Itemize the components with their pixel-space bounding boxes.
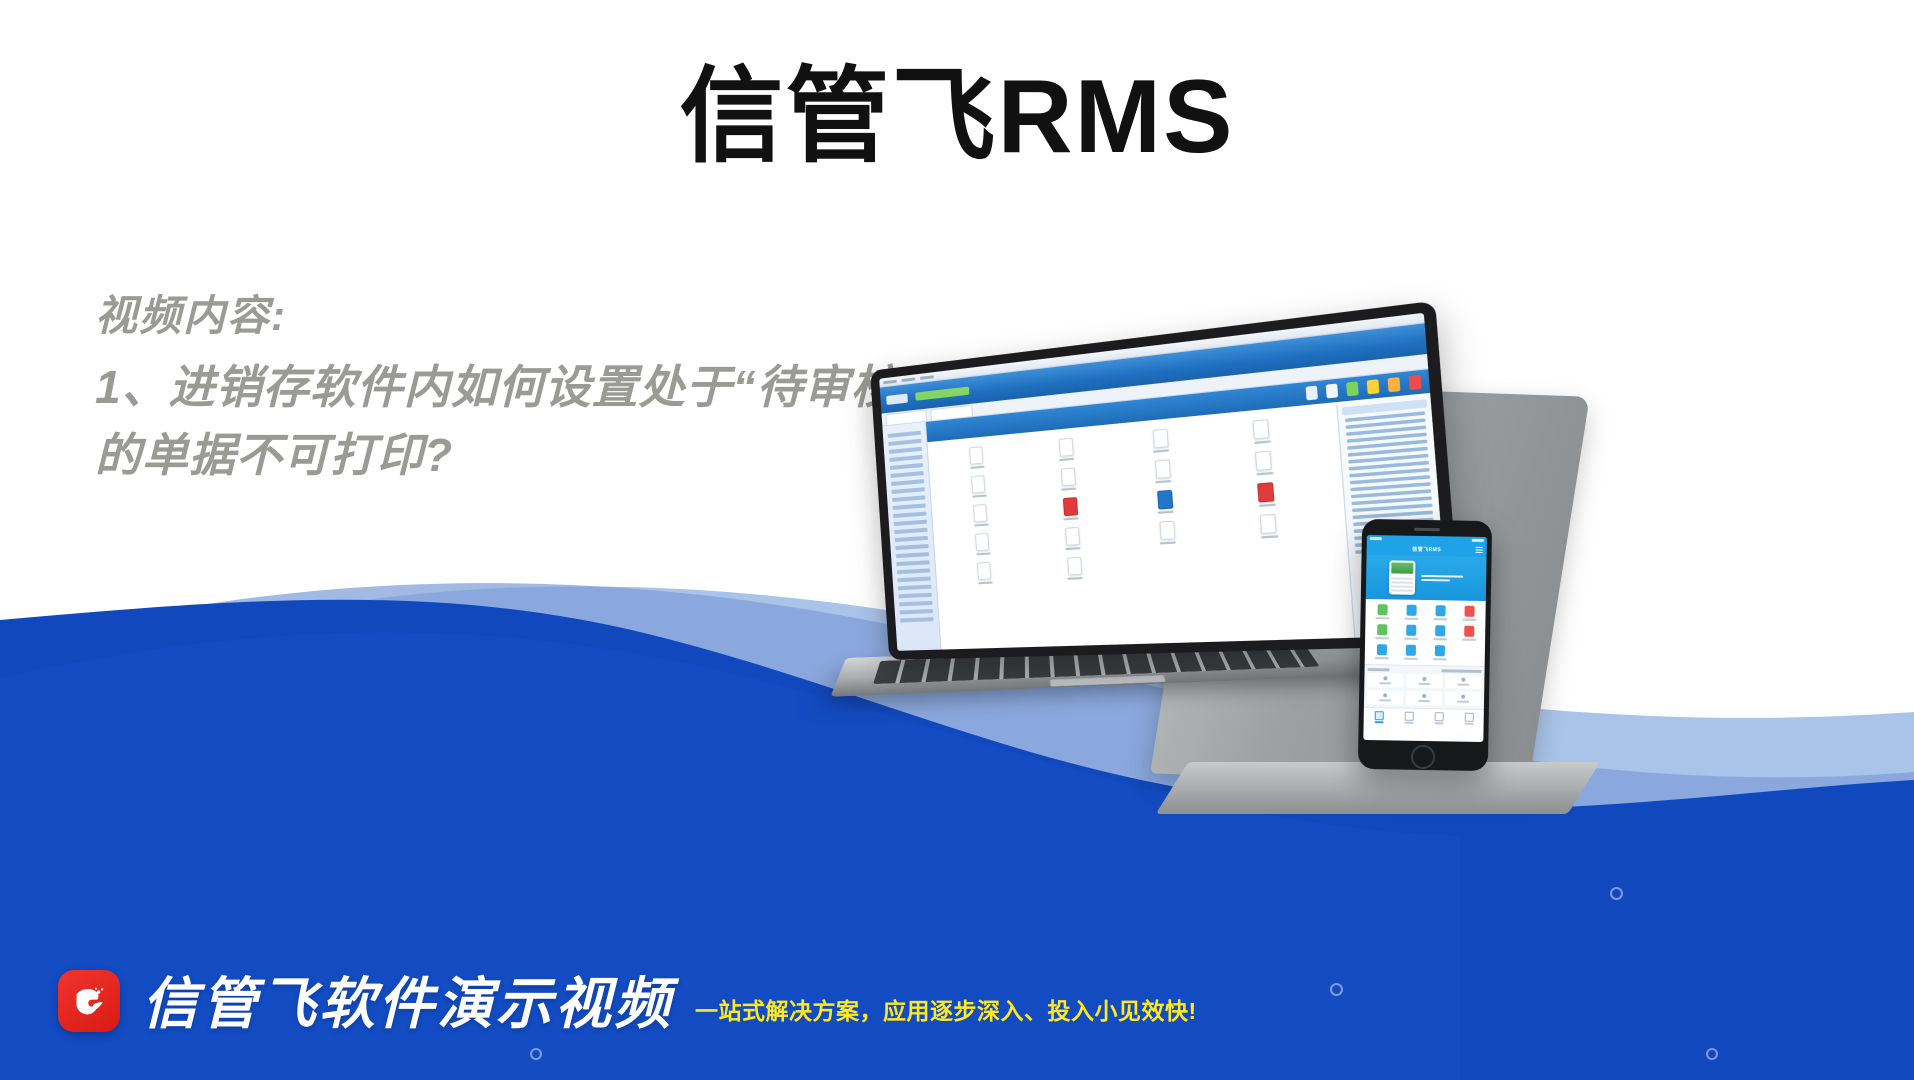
banner-image <box>1391 562 1413 573</box>
module-label <box>1156 480 1172 483</box>
module-icon <box>975 533 989 551</box>
module-label <box>978 582 992 585</box>
module-icon <box>1157 490 1173 510</box>
sidebar-item[interactable] <box>897 576 930 582</box>
stat-cell[interactable] <box>1367 673 1403 688</box>
erp-module-item[interactable] <box>943 560 1028 586</box>
module-label <box>972 495 986 498</box>
nav-label <box>1464 722 1473 724</box>
stat-icon <box>1461 695 1465 699</box>
erp-module-item[interactable] <box>1121 518 1216 547</box>
nav-label <box>1374 721 1383 723</box>
phone-module-item[interactable] <box>1455 606 1482 621</box>
module-label <box>1256 472 1273 476</box>
erp-module-item[interactable] <box>1026 494 1116 523</box>
menu-item <box>920 375 934 380</box>
module-label <box>1061 487 1076 490</box>
stat-cell[interactable] <box>1406 691 1442 706</box>
sidebar-item[interactable] <box>888 439 921 446</box>
nav-profile[interactable] <box>1454 710 1484 728</box>
toolbar-icon[interactable] <box>1409 375 1422 390</box>
module-label <box>1404 638 1418 640</box>
module-label <box>1462 639 1476 641</box>
banner-rows <box>1391 575 1413 591</box>
module-icon <box>1255 451 1272 471</box>
module-icon <box>1253 419 1270 440</box>
stat-label <box>1457 684 1469 686</box>
stat-icon <box>1461 678 1465 682</box>
module-label <box>1433 638 1447 640</box>
module-icon <box>1155 459 1171 479</box>
erp-module-item[interactable] <box>1217 479 1318 510</box>
module-label <box>1403 658 1417 660</box>
brand-tagline: 一站式解决方案，应用逐步深入、投入小见效快! <box>695 992 1197 1032</box>
phone-home-button[interactable] <box>1411 745 1435 769</box>
erp-module-item[interactable] <box>1022 434 1111 464</box>
stat-cell[interactable] <box>1445 674 1481 689</box>
module-label <box>976 552 990 555</box>
module-label <box>1374 657 1388 659</box>
module-label <box>974 524 988 527</box>
person-icon <box>1464 712 1473 721</box>
sidebar-item[interactable] <box>897 568 930 574</box>
phone-bottom-nav <box>1364 707 1484 727</box>
module-icon-placeholder <box>1463 646 1473 657</box>
presentation-slide: 信管飞RMS 视频内容: 1、进销存软件内如何设置处于“待审核” 的单据不可打印… <box>0 0 1914 1080</box>
phone-module-item <box>1455 646 1482 661</box>
module-icon <box>1260 514 1277 534</box>
stats-cells <box>1367 673 1482 706</box>
toolbar-icon[interactable] <box>1388 377 1401 392</box>
sidebar-item[interactable] <box>890 463 923 470</box>
erp-brand-text <box>915 386 969 400</box>
laptop-trackpad <box>1050 675 1166 687</box>
stats-filters[interactable] <box>1442 669 1482 673</box>
sidebar-item[interactable] <box>890 471 923 478</box>
module-label <box>1461 659 1475 661</box>
module-label <box>1154 449 1170 453</box>
module-label <box>1432 658 1446 660</box>
scan-icon <box>1404 711 1413 720</box>
toolbar-icon[interactable] <box>1306 386 1318 401</box>
module-icon <box>1377 624 1387 635</box>
sidebar-item[interactable] <box>896 552 929 558</box>
menu-item <box>901 377 915 382</box>
erp-module-item[interactable] <box>935 443 1019 472</box>
phone-module-item[interactable] <box>1455 626 1482 641</box>
module-icon <box>1405 645 1415 656</box>
sidebar-item[interactable] <box>898 593 931 599</box>
stat-icon <box>1383 693 1387 697</box>
module-label <box>1063 517 1078 520</box>
erp-module-item[interactable] <box>939 501 1024 529</box>
stat-label <box>1379 682 1391 684</box>
module-icon <box>1062 497 1077 516</box>
nav-scan[interactable] <box>1394 708 1424 726</box>
stat-label <box>1418 683 1430 685</box>
stat-cell[interactable] <box>1406 674 1442 689</box>
phone-module-item[interactable] <box>1426 625 1453 640</box>
dove-logo-icon <box>58 970 120 1032</box>
home-icon <box>1374 711 1383 720</box>
stats-header <box>1368 668 1482 673</box>
smartphone: 信管飞RMS <box>1358 519 1492 771</box>
menu-item <box>883 379 897 384</box>
toolbar-icon[interactable] <box>1367 379 1380 394</box>
module-icon <box>1435 625 1445 636</box>
erp-module-item[interactable] <box>1118 487 1213 517</box>
module-icon <box>1406 625 1416 636</box>
stat-cell[interactable] <box>1367 690 1403 705</box>
nav-report[interactable] <box>1424 709 1454 727</box>
stat-label <box>1379 699 1391 701</box>
sidebar-item[interactable] <box>894 528 927 534</box>
banner-text-line <box>1421 575 1463 578</box>
erp-module-item[interactable] <box>1114 425 1209 456</box>
module-icon <box>1067 557 1082 576</box>
status-left-icons <box>1370 537 1382 540</box>
erp-module-item[interactable] <box>1024 464 1114 493</box>
sidebar-item[interactable] <box>898 585 931 591</box>
module-icon <box>1464 606 1474 617</box>
module-icon <box>1064 527 1079 546</box>
device-mockup-group: 信管飞RMS <box>880 370 1914 970</box>
sidebar-item[interactable] <box>888 431 921 438</box>
sidebar-item[interactable] <box>900 609 934 614</box>
module-label <box>1068 577 1083 580</box>
erp-module-item[interactable] <box>1219 511 1320 541</box>
module-label <box>1158 511 1174 514</box>
erp-module-item[interactable] <box>937 472 1021 500</box>
sidebar-item[interactable] <box>895 536 928 542</box>
module-icon <box>1258 482 1275 502</box>
sidebar-item[interactable] <box>900 617 934 622</box>
stat-cell[interactable] <box>1445 691 1481 706</box>
sidebar-item[interactable] <box>895 544 928 550</box>
sidebar-item[interactable] <box>889 447 922 454</box>
module-icon <box>971 475 985 494</box>
module-label <box>1375 617 1389 619</box>
sidebar-item[interactable] <box>894 520 927 526</box>
module-icon <box>1377 604 1387 615</box>
sidebar-item[interactable] <box>893 503 926 510</box>
erp-logo-icon <box>886 393 908 404</box>
module-label <box>1259 504 1276 507</box>
erp-module-item[interactable] <box>1214 447 1315 479</box>
module-label <box>1059 458 1074 461</box>
sidebar-item[interactable] <box>892 495 925 502</box>
nav-label <box>1404 721 1413 723</box>
module-label <box>1462 619 1476 621</box>
erp-module-item[interactable] <box>1028 524 1118 552</box>
sidebar-item[interactable] <box>896 560 929 566</box>
phone-banner <box>1366 555 1487 601</box>
module-label <box>1254 440 1271 444</box>
module-label <box>1404 618 1418 620</box>
brand-name: 信管飞软件演示视频 <box>142 976 673 1032</box>
phone-module-item[interactable] <box>1368 644 1395 659</box>
phone-module-item[interactable] <box>1426 645 1453 660</box>
sidebar-item[interactable] <box>891 487 924 494</box>
sidebar-item[interactable] <box>899 601 933 607</box>
phone-app-titlebar: 信管飞RMS <box>1367 542 1487 557</box>
module-icon <box>1153 429 1169 449</box>
stats-title <box>1368 668 1390 671</box>
module-label <box>1065 547 1080 550</box>
laptop-rear-base <box>1156 762 1600 814</box>
decorative-dot <box>530 1048 542 1060</box>
sidebar-item[interactable] <box>889 455 922 462</box>
module-icon <box>1464 626 1474 637</box>
erp-module-item[interactable] <box>1030 555 1120 582</box>
stat-label <box>1418 700 1430 702</box>
module-label <box>970 466 984 469</box>
module-label <box>1375 637 1389 639</box>
module-icon <box>1434 645 1444 656</box>
phone-stats-section <box>1364 664 1485 709</box>
module-icon <box>1406 605 1416 616</box>
stat-label <box>1457 701 1469 703</box>
toolbar-icon[interactable] <box>1346 381 1359 396</box>
banner-text <box>1421 573 1463 584</box>
phone-speaker <box>1414 528 1440 531</box>
module-icon <box>1058 438 1073 457</box>
module-icon <box>1435 605 1445 616</box>
erp-module-item[interactable] <box>941 531 1026 558</box>
module-icon <box>1376 644 1386 655</box>
banner-text-line <box>1421 579 1450 582</box>
module-icon <box>973 504 987 523</box>
phone-module-item[interactable] <box>1368 624 1395 639</box>
module-icon <box>1060 467 1075 486</box>
banner-device-illustration <box>1389 560 1416 594</box>
slide-title: 信管飞RMS <box>0 56 1914 179</box>
module-icon <box>977 562 992 580</box>
module-label <box>1261 535 1278 538</box>
module-label <box>1433 618 1447 620</box>
footer-brand-bar: 信管飞软件演示视频 一站式解决方案，应用逐步深入、投入小见效快! <box>58 970 1197 1032</box>
phone-module-item[interactable] <box>1426 605 1453 620</box>
phone-module-item[interactable] <box>1397 605 1424 620</box>
stat-icon <box>1422 694 1426 698</box>
toolbar-icon[interactable] <box>1326 384 1338 399</box>
sidebar-item[interactable] <box>891 479 924 486</box>
decorative-dot <box>1330 983 1343 996</box>
decorative-dot <box>1706 1048 1718 1060</box>
phone-module-item[interactable] <box>1397 625 1424 640</box>
chart-icon <box>1434 712 1443 721</box>
menu-icon[interactable] <box>1476 547 1483 553</box>
module-label <box>1160 541 1176 544</box>
sidebar-item[interactable] <box>893 512 926 518</box>
video-content-label: 视频内容: <box>95 286 1125 347</box>
erp-module-item[interactable] <box>1116 456 1211 487</box>
nav-home[interactable] <box>1364 708 1394 726</box>
phone-module-item[interactable] <box>1397 645 1424 660</box>
status-right-icons <box>1472 539 1484 542</box>
module-icon <box>1159 521 1175 541</box>
module-icon <box>969 446 983 465</box>
phone-module-grid <box>1365 599 1486 666</box>
phone-app-title: 信管飞RMS <box>1412 546 1441 554</box>
stat-icon <box>1422 677 1426 681</box>
stat-icon <box>1383 676 1387 680</box>
nav-label <box>1434 722 1443 724</box>
phone-screen: 信管飞RMS <box>1363 535 1487 742</box>
erp-module-item[interactable] <box>1212 415 1313 448</box>
phone-module-item[interactable] <box>1368 604 1395 619</box>
